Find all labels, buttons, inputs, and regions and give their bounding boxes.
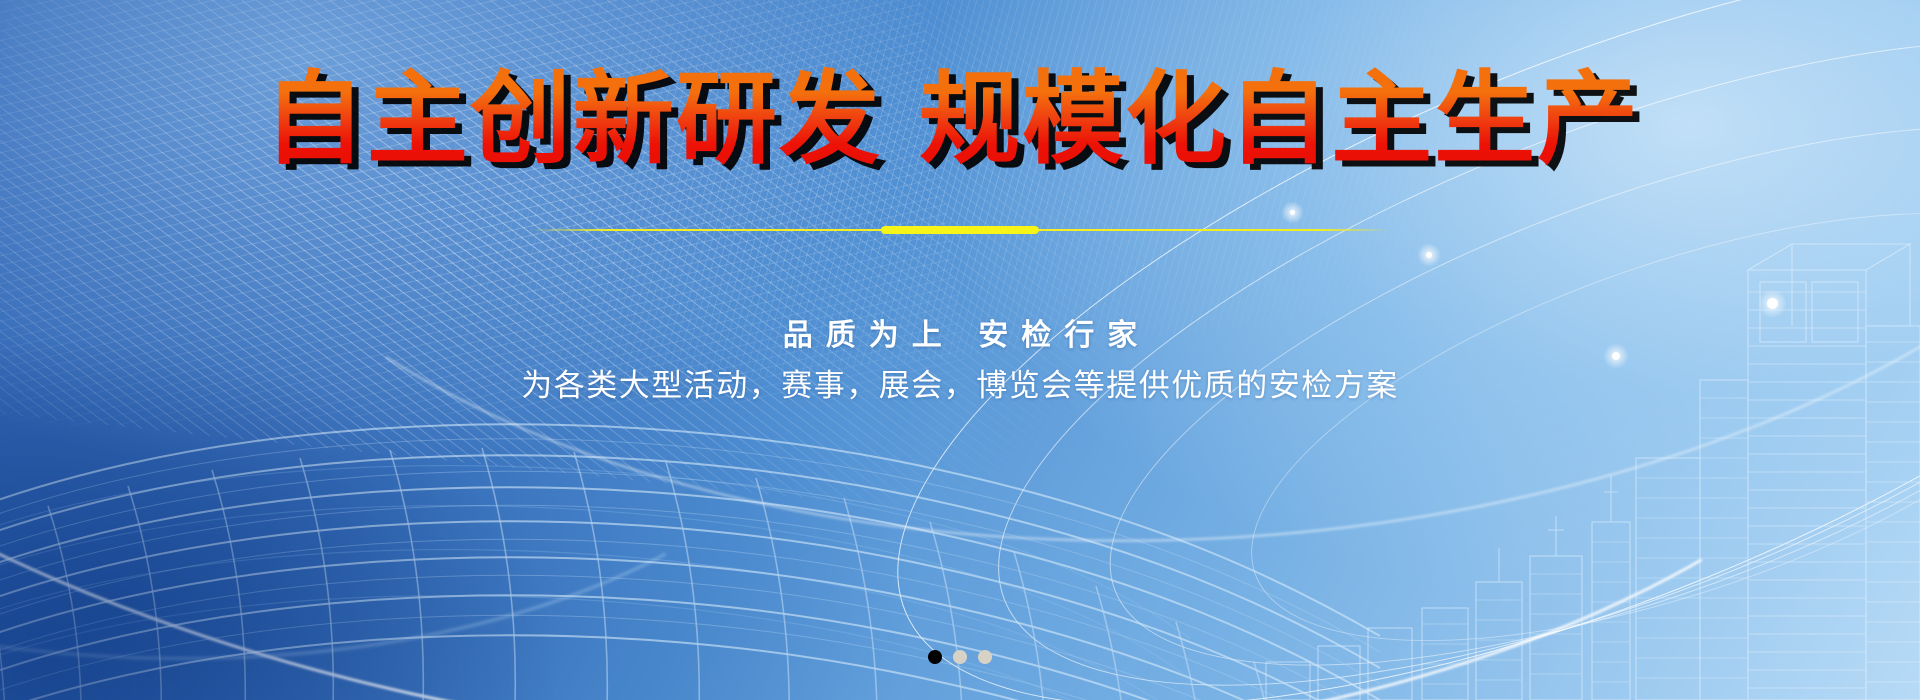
hero-banner: 自主创新研发 规模化自主生产 品质为上 安检行家 为各类大型活动，赛事，展会，博…: [0, 0, 1920, 700]
banner-title: 自主创新研发 规模化自主生产: [0, 63, 1920, 176]
banner-subtitle-primary: 品质为上 安检行家: [0, 310, 1920, 354]
yellow-divider: [530, 228, 1390, 232]
carousel-dot-3[interactable]: [978, 650, 992, 664]
carousel-dots[interactable]: [0, 650, 1920, 664]
carousel-dot-2[interactable]: [953, 650, 967, 664]
carousel-dot-1[interactable]: [928, 650, 942, 664]
divider-knob: [881, 226, 1039, 234]
banner-subtitle-secondary: 为各类大型活动，赛事，展会，博览会等提供优质的安检方案: [0, 360, 1920, 405]
banner-content: 自主创新研发 规模化自主生产 品质为上 安检行家 为各类大型活动，赛事，展会，博…: [0, 0, 1920, 700]
